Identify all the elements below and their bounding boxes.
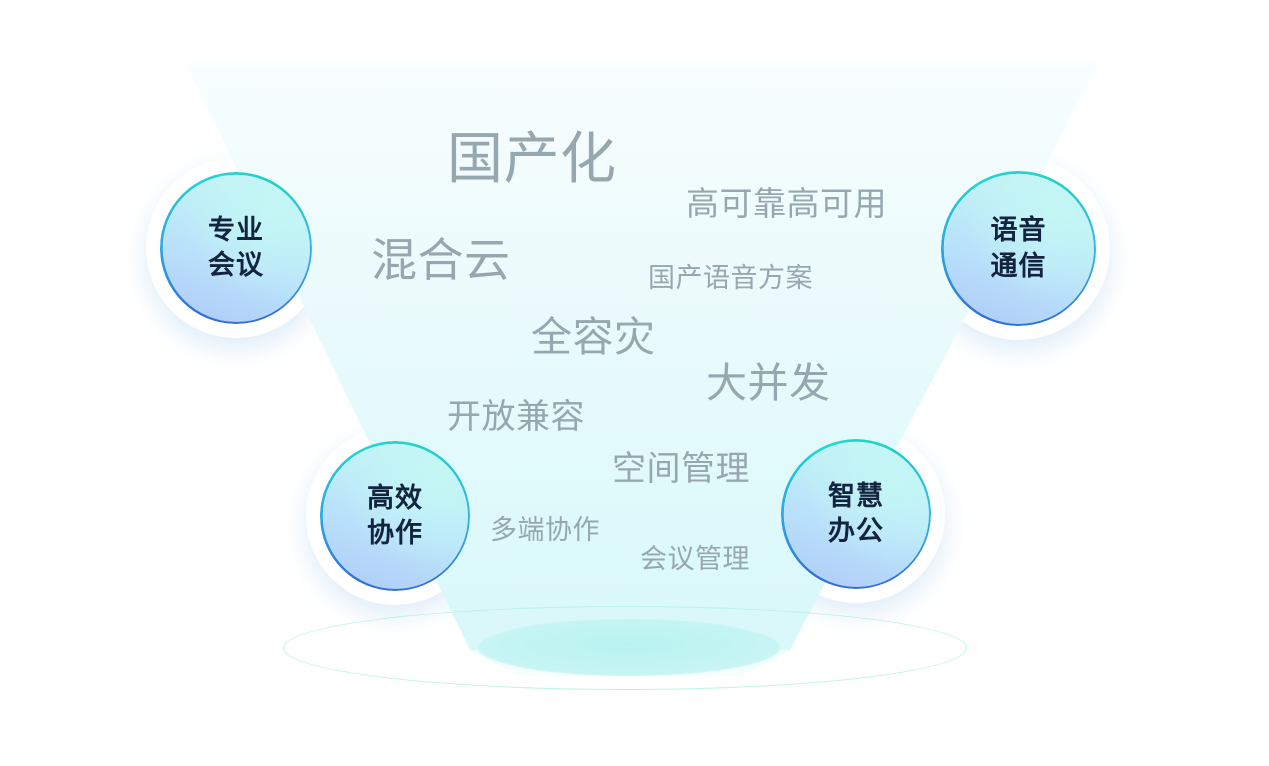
node-label: 高效 协作 (367, 481, 423, 551)
node-label-line-2: 会议 (208, 248, 264, 283)
keyword-multi-terminal: 多端协作 (490, 517, 600, 544)
diagram-canvas: 国产化 高可靠高可用 混合云 国产语音方案 全容灾 大并发 开放兼容 空间管理 … (0, 0, 1269, 766)
node-label: 专业 会议 (208, 213, 264, 283)
keyword-hybrid-cloud: 混合云 (371, 237, 511, 283)
node-label-line-1: 专业 (208, 213, 264, 248)
keyword-full-disaster-recovery: 全容灾 (531, 317, 656, 358)
keyword-meeting-management: 会议管理 (640, 546, 750, 573)
node-label-line-1: 高效 (367, 481, 423, 516)
keyword-open-compatible: 开放兼容 (447, 400, 585, 434)
node-label: 智慧 办公 (828, 479, 884, 549)
keyword-cloud: 国产化 高可靠高可用 混合云 国产语音方案 全容灾 大并发 开放兼容 空间管理 … (0, 0, 1269, 766)
keyword-domestic-voice: 国产语音方案 (648, 265, 813, 292)
keyword-space-management: 空间管理 (612, 452, 750, 486)
node-label-line-2: 协作 (367, 516, 423, 551)
node-smart-office[interactable]: 智慧 办公 (781, 439, 931, 589)
node-efficient-collaboration[interactable]: 高效 协作 (320, 441, 470, 591)
keyword-localization: 国产化 (447, 131, 617, 187)
node-label-line-1: 语音 (991, 213, 1047, 248)
keyword-high-reliability: 高可靠高可用 (686, 187, 887, 220)
keyword-high-concurrency: 大并发 (706, 363, 831, 404)
node-label-line-1: 智慧 (828, 479, 884, 514)
node-label: 语音 通信 (991, 213, 1047, 283)
node-voice-communication[interactable]: 语音 通信 (941, 171, 1096, 326)
node-label-line-2: 办公 (828, 514, 884, 549)
node-professional-meeting[interactable]: 专业 会议 (160, 172, 312, 324)
node-label-line-2: 通信 (991, 249, 1047, 284)
